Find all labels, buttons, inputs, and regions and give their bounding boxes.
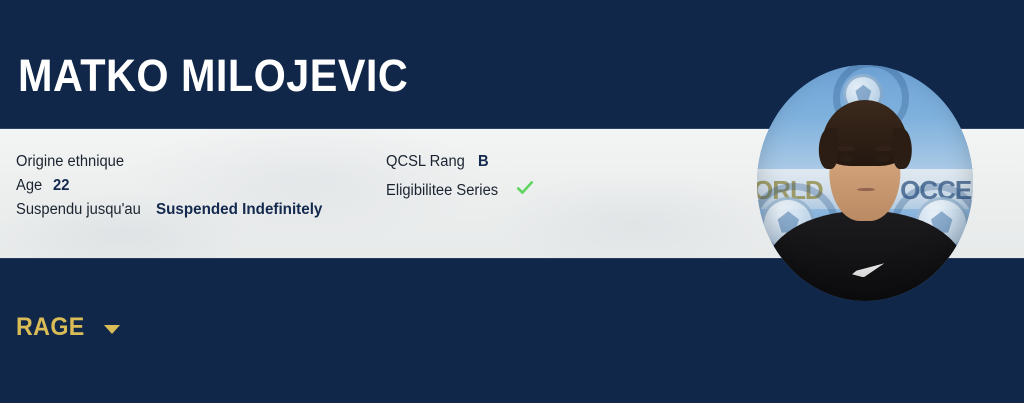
player-figure (757, 65, 973, 301)
info-row-age: Age 22 (16, 177, 332, 201)
info-row-suspendu: Suspendu jusqu'au Suspended Indefinitely (16, 201, 332, 225)
eyebrow-left (838, 146, 855, 150)
rage-section-toggle[interactable]: RAGE (16, 315, 120, 340)
info-row-origine: Origine ethnique (16, 153, 332, 177)
player-profile-card: MATKO MILOJEVIC Origine ethnique Age 22 … (0, 0, 1024, 403)
check-icon (516, 179, 534, 197)
info-value-suspendu: Suspended Indefinitely (156, 201, 322, 219)
info-label-suspendu: Suspendu jusqu'au (16, 201, 141, 219)
info-label-qcsl-rang: QCSL Rang (386, 153, 465, 171)
rage-label: RAGE (16, 315, 85, 340)
info-row-qcsl-rang: QCSL Rang B (386, 153, 534, 177)
eyebrow-right (875, 146, 892, 150)
eye-right (876, 155, 890, 163)
info-column-left: Origine ethnique Age 22 Suspendu jusqu'a… (16, 153, 332, 225)
info-row-eligibilitee: Eligibilitee Series (386, 177, 534, 201)
page-title: MATKO MILOJEVIC (18, 52, 408, 100)
player-photo: ORLD OCCER (757, 65, 973, 301)
chevron-down-icon (104, 325, 120, 334)
info-column-right: QCSL Rang B Eligibilitee Series (386, 153, 534, 201)
torso-shirt (765, 211, 966, 301)
hair (822, 100, 908, 166)
info-value-age: 22 (53, 177, 69, 195)
avatar: ORLD OCCER (757, 65, 973, 301)
info-label-eligibilitee: Eligibilitee Series (386, 182, 498, 200)
info-label-age: Age (16, 177, 42, 195)
info-label-origine: Origine ethnique (16, 153, 124, 171)
info-value-qcsl-rang: B (478, 153, 489, 171)
